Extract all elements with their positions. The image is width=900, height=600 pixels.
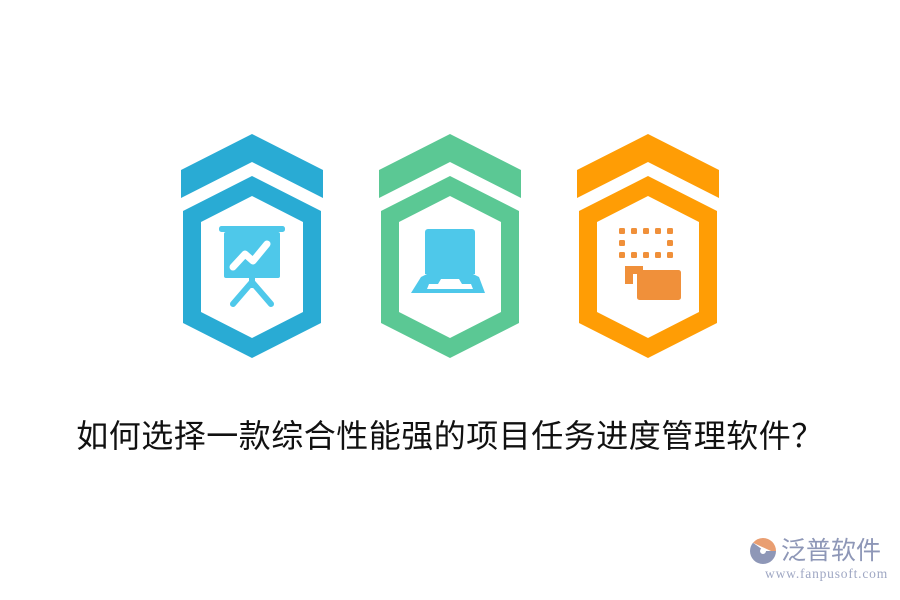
selection-copy-icon xyxy=(619,228,681,300)
presentation-chart-icon xyxy=(219,226,285,304)
watermark-brand-row: 泛普软件 xyxy=(748,534,888,568)
banner-canvas: 如何选择一款综合性能强的项目任务进度管理软件？ 泛普软件 www.fanpuso… xyxy=(0,0,900,600)
fanpusoft-logo-icon xyxy=(748,536,778,566)
hexagon-outline xyxy=(579,176,717,358)
watermark: 泛普软件 www.fanpusoft.com xyxy=(748,534,888,588)
presentation-chart-badge xyxy=(171,132,333,364)
laptop-badge xyxy=(369,132,531,364)
watermark-url: www.fanpusoft.com xyxy=(748,566,888,582)
watermark-brand-name: 泛普软件 xyxy=(781,536,881,566)
page-title: 如何选择一款综合性能强的项目任务进度管理软件？ xyxy=(0,412,900,460)
badge-row xyxy=(0,132,900,364)
laptop-icon xyxy=(411,229,485,293)
selection-copy-badge xyxy=(567,132,729,364)
